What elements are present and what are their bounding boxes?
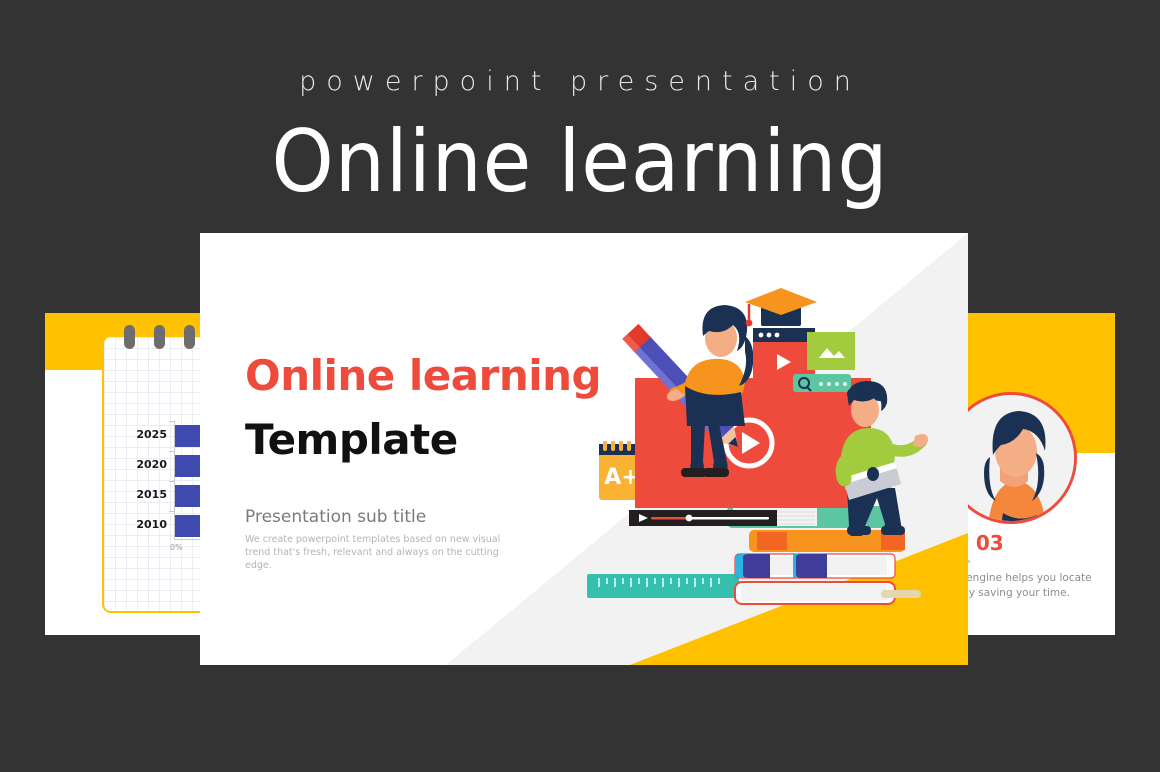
spiral-ring-icon — [184, 325, 195, 349]
man-illustration — [836, 381, 928, 536]
header-title: Online learning — [46, 112, 1113, 212]
screenshot-root: powerpoint presentation Online learning … — [0, 0, 1160, 772]
ruler-icon — [587, 574, 739, 598]
graduation-cap-icon — [745, 288, 817, 326]
main-slide[interactable]: Online learning Template Presentation su… — [200, 233, 968, 665]
online-learning-illustration: A+ — [585, 278, 945, 628]
slide-title: Online learning — [245, 351, 601, 400]
chart-category-label: 2015 — [119, 488, 167, 501]
slide-sub-title: Presentation sub title — [245, 507, 426, 527]
chart-category-label: 2010 — [119, 518, 167, 531]
browser-window-icon — [753, 328, 815, 382]
spiral-ring-icon — [124, 325, 135, 349]
chart-category-label: 2020 — [119, 458, 167, 471]
search-bar-icon — [793, 374, 851, 392]
image-card-icon — [807, 332, 855, 370]
video-player — [629, 378, 871, 526]
grade-label: A+ — [604, 465, 639, 490]
slide-subtitle: Template — [245, 415, 458, 464]
spiral-ring-icon — [154, 325, 165, 349]
slide-body-text: We create powerpoint templates based on … — [245, 533, 520, 572]
chart-category-label: 2025 — [119, 428, 167, 441]
header-kicker: powerpoint presentation — [0, 66, 1160, 97]
chart-x-tick: 0% — [170, 543, 183, 552]
